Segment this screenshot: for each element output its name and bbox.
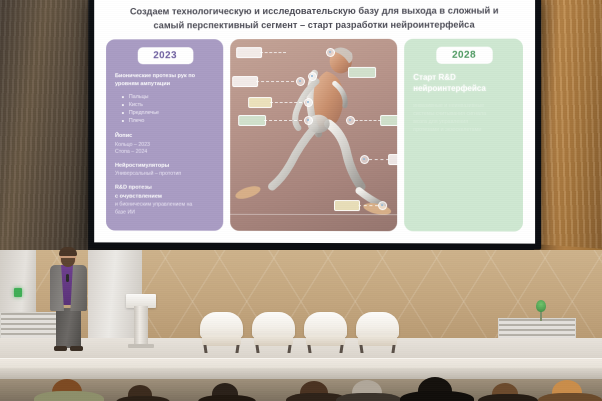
group4-title: R&D протезы [115,185,215,193]
callout-elbow [248,97,272,108]
group2-title: Йопис [115,133,215,141]
microphone-icon [66,274,69,282]
panel-2028: 2028 Старт R&D нейроинтерфейса инвазивны… [404,39,523,232]
callout-head [236,47,262,58]
projection-screen-bezel: Создаем технологическую и исследовательс… [89,0,541,250]
stage-chair [302,312,349,354]
slide-title: Создаем технологическую и исследовательс… [116,4,513,32]
joint-marker-elbow [304,98,313,107]
right-panel-faint-line: мозга для управления [413,118,515,126]
leader-line [260,52,286,53]
list-item: Пальцы [129,93,215,101]
callout-shoulder [232,76,258,87]
presenter-legs [56,308,81,348]
presenter [46,248,92,352]
joint-marker-knee [360,155,369,164]
list-item: Предплечье [129,109,215,117]
right-panel-faint-line: протезами и экзоскелетами [413,126,515,134]
leader-line [256,81,294,82]
group3-line: Универсальный – прототип [115,171,215,179]
audience-shoulders [198,395,256,401]
callout-hip [380,115,397,126]
projection-screen: Создаем технологическую и исследовательс… [94,0,535,244]
group2-line: Стопа – 2024 [115,149,215,157]
leader-line [270,102,302,103]
joint-marker-head [326,48,335,57]
slide-panels: 2023 Бионические протезы рук по уровням … [106,39,523,232]
exit-sign-icon [14,288,22,297]
audience-shoulders [336,393,402,401]
leader-line [264,120,302,121]
amputation-levels-list: Пальцы Кисть Предплечье Плечо [115,93,215,125]
audience-shoulders [116,396,170,401]
panel-bionic-figure [230,39,397,231]
leader-line [358,205,378,206]
presentation-slide: Создаем технологическую и исследовательс… [94,0,535,244]
audience-shoulders [400,391,474,401]
left-panel-heading: Бионические протезы рук по уровням ампут… [115,72,215,88]
group4-line: и бионическим управлением на [115,202,215,210]
audience-shoulders [478,394,538,401]
stage-chair [250,312,297,354]
right-panel-faint-line: системы считывания сигнала [413,110,515,118]
joint-marker-hand [304,116,313,125]
lectern-base [128,344,154,348]
audience-shoulders [538,393,602,401]
callout-foot [334,200,360,211]
right-panel-faint-line: инвазивные и неинвазивные [413,102,515,110]
stage-chair [198,312,245,354]
right-panel-heading: Старт R&D нейроинтерфейса [413,72,515,94]
leader-line [355,120,381,121]
panel-2023: 2023 Бионические протезы рук по уровням … [106,39,223,231]
group4-line: с очувствлением [115,193,215,201]
callout-neck [348,67,376,78]
joint-marker-shoulder [296,77,305,86]
right-wood-panel [536,0,602,256]
bionic-runner-illustration [230,39,397,231]
joint-marker-neck [308,72,317,81]
leader-line [369,159,389,160]
joint-marker-hip [346,116,355,125]
group3-title: Нейростимуляторы [115,163,215,171]
plant-icon [536,300,546,320]
callout-knee [388,154,397,165]
audience-foreground [0,368,602,401]
group2-line: Кольцо – 2023 [115,142,215,150]
group4-line: базе ИИ [115,209,215,217]
presenter-shoe [54,346,67,351]
callout-hand [238,115,266,126]
presenter-shoe [70,346,83,351]
year-badge-2028: 2028 [436,47,492,64]
conference-hall-photo: Создаем технологическую и исследовательс… [0,0,602,401]
stage-chair [354,312,401,354]
left-wood-panel [0,0,88,262]
year-badge-2023: 2023 [137,47,193,64]
joint-marker-foot [378,201,387,210]
list-item: Кисть [129,101,215,109]
lectern-stem [134,306,148,346]
audience-shoulders [34,391,104,401]
presenter-hair [59,247,77,256]
list-item: Плечо [129,117,215,125]
